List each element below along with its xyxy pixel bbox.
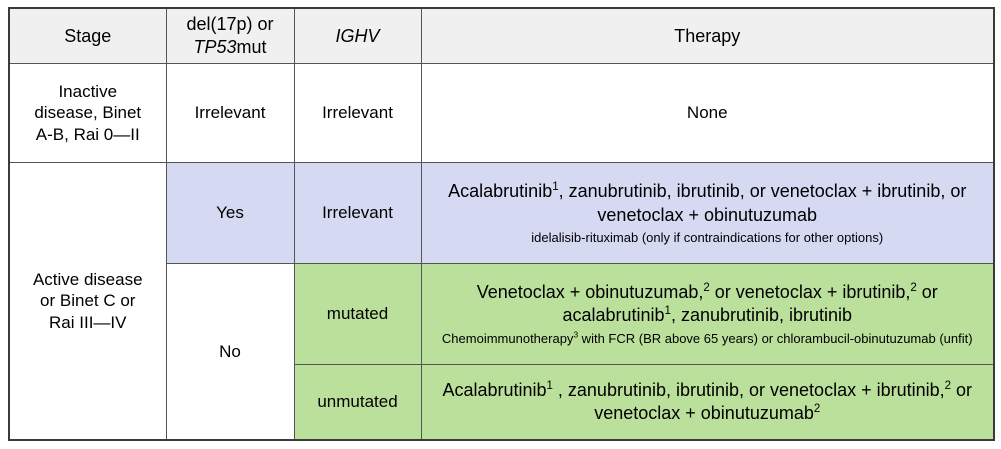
cell-stage-inactive: Inactive disease, Binet A-B, Rai 0—II [9, 64, 166, 163]
cell-therapy-mutated: Venetoclax + obinutuzumab,2 or venetocla… [421, 264, 994, 365]
cell-therapy-del17p-yes: Acalabrutinib1, zanubrutinib, ibrutinib,… [421, 163, 994, 264]
cell-ighv-irrelevant: Irrelevant [294, 163, 421, 264]
stage-active-line1: Active disease [33, 270, 143, 289]
footnote-marker-2b: 2 [814, 403, 820, 415]
cell-therapy-unmutated: Acalabrutinib1 , zanubrutinib, ibrutinib… [421, 365, 994, 440]
stage-inactive-line1: Inactive [58, 82, 117, 101]
header-tp53-suffix: mut [237, 37, 267, 57]
therapy-seg-1: Venetoclax + obinutuzumab, [477, 282, 704, 302]
cell-ighv-unmutated: unmutated [294, 365, 421, 440]
therapy-table-container: Stage del(17p) or TP53mut IGHV Therapy I… [8, 7, 993, 441]
therapy-sub-seg-1: Chemoimmunotherapy [442, 331, 574, 346]
header-stage: Stage [9, 8, 166, 64]
header-therapy: Therapy [421, 8, 994, 64]
header-del17p: del(17p) or TP53mut [166, 8, 294, 64]
header-ighv: IGHV [294, 8, 421, 64]
stage-inactive-line3: A-B, Rai 0—II [36, 125, 140, 144]
header-row: Stage del(17p) or TP53mut IGHV Therapy [9, 8, 994, 64]
table-row: Active disease or Binet C or Rai III—IV … [9, 163, 994, 264]
therapy-seg-2: or venetoclax + ibrutinib, [710, 282, 911, 302]
therapy-seg-4: , zanubrutinib, ibrutinib [671, 305, 852, 325]
therapy-main-text: Acalabrutinib1 , zanubrutinib, ibrutinib… [428, 379, 988, 426]
table-row: Inactive disease, Binet A-B, Rai 0—II Ir… [9, 64, 994, 163]
stage-active-line3: Rai III—IV [49, 313, 126, 332]
cell-del17p-yes: Yes [166, 163, 294, 264]
cell-del17p-no: No [166, 264, 294, 440]
cell-stage-active: Active disease or Binet C or Rai III—IV [9, 163, 166, 440]
therapy-sub-text: Chemoimmunotherapy3 with FCR (BR above 6… [428, 331, 988, 348]
therapy-seg-1: Acalabrutinib [442, 380, 546, 400]
stage-inactive-line2: disease, Binet [34, 103, 141, 122]
stage-active-line2: or Binet C or [40, 291, 135, 310]
cell-ighv-mutated: mutated [294, 264, 421, 365]
therapy-sub-seg-2: with FCR (BR above 65 years) or chloramb… [578, 331, 973, 346]
therapy-sub-text: idelalisib-rituximab (only if contraindi… [428, 230, 988, 247]
therapy-seg-2: , zanubrutinib, ibrutinib, or venetoclax… [553, 380, 945, 400]
table-header: Stage del(17p) or TP53mut IGHV Therapy [9, 8, 994, 64]
cell-therapy-inactive: None [421, 64, 994, 163]
cell-ighv-inactive: Irrelevant [294, 64, 421, 163]
cell-del17p-inactive: Irrelevant [166, 64, 294, 163]
header-del17p-line1: del(17p) or [186, 14, 273, 34]
therapy-drug-acalabrutinib: Acalabrutinib [448, 181, 552, 201]
therapy-main-text: Acalabrutinib1, zanubrutinib, ibrutinib,… [428, 180, 988, 227]
therapy-main-text: Venetoclax + obinutuzumab,2 or venetocla… [428, 281, 988, 328]
therapy-rest: , zanubrutinib, ibrutinib, or venetoclax… [559, 181, 967, 224]
header-tp53-gene: TP53 [193, 37, 236, 57]
table-body: Inactive disease, Binet A-B, Rai 0—II Ir… [9, 64, 994, 440]
cll-therapy-table: Stage del(17p) or TP53mut IGHV Therapy I… [8, 7, 995, 441]
